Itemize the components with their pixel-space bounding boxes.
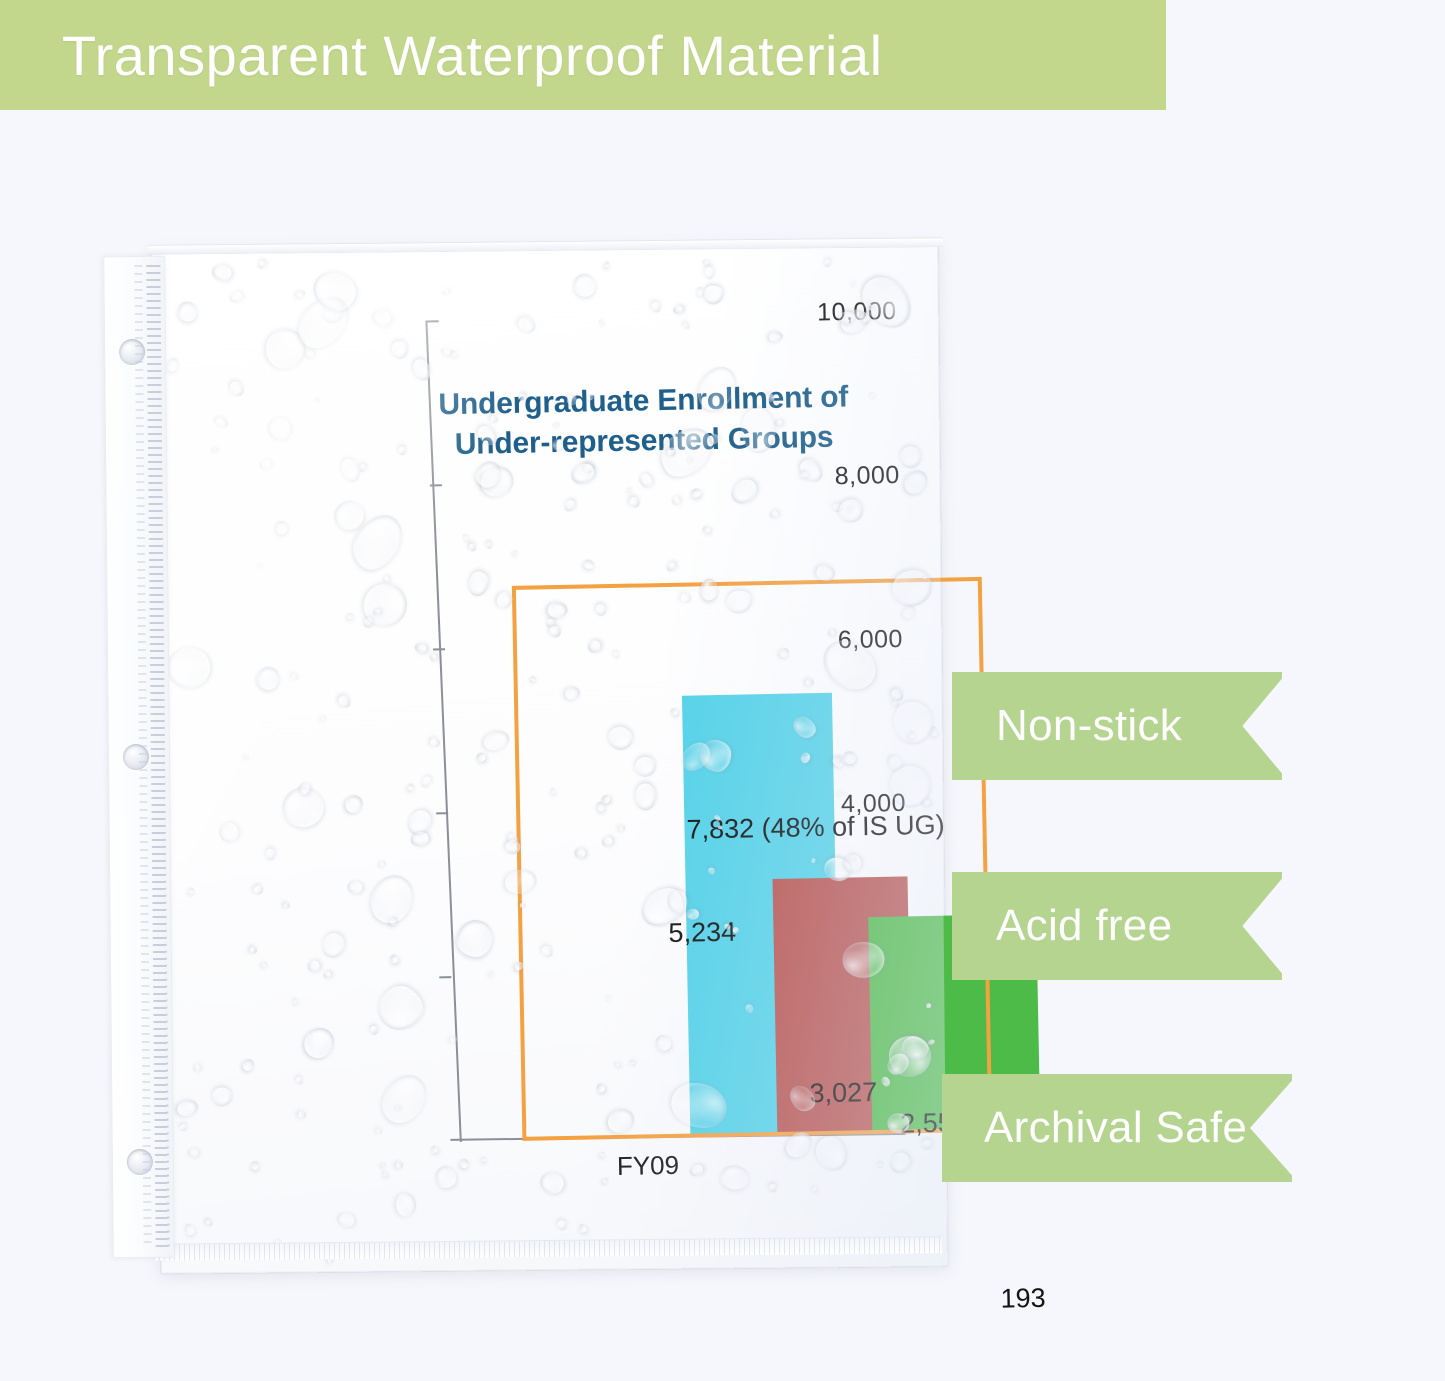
feature-ribbon-label: Acid free bbox=[952, 901, 1172, 951]
water-droplet bbox=[193, 1064, 201, 1073]
water-droplet bbox=[164, 356, 180, 374]
chart-annotation-total: 7,832 (48% of IS UG) bbox=[686, 810, 945, 846]
water-droplet bbox=[211, 447, 216, 452]
bar-value-label: 3,027 bbox=[809, 1077, 877, 1109]
sheet-protector: Undergraduate Enrollment of Under-repres… bbox=[108, 232, 948, 1277]
binder-hole bbox=[127, 1149, 153, 1175]
water-droplet bbox=[211, 1087, 232, 1108]
feature-ribbon-label: Archival Safe bbox=[942, 1103, 1247, 1153]
water-droplet bbox=[256, 260, 267, 271]
binder-hole bbox=[123, 744, 149, 770]
bar-value-label: 5,234 bbox=[668, 917, 736, 949]
y-axis-tick bbox=[427, 320, 439, 322]
water-droplet bbox=[187, 887, 194, 895]
binder-hole bbox=[119, 339, 145, 365]
bar-value-label: 193 bbox=[1000, 1283, 1046, 1315]
feature-ribbon-archival-safe: Archival Safe bbox=[942, 1074, 1292, 1182]
water-droplet bbox=[205, 1219, 214, 1228]
water-droplet bbox=[175, 1097, 200, 1118]
y-axis-tick bbox=[430, 484, 442, 486]
header-banner-title: Transparent Waterproof Material bbox=[0, 23, 883, 88]
water-droplet bbox=[186, 1147, 198, 1157]
water-droplet bbox=[177, 302, 197, 322]
sheet-protector-body: Undergraduate Enrollment of Under-repres… bbox=[151, 242, 948, 1274]
chart-figure: Undergraduate Enrollment of Under-repres… bbox=[216, 258, 934, 1231]
highlight-frame bbox=[512, 577, 993, 1141]
header-banner: Transparent Waterproof Material bbox=[0, 0, 1166, 110]
water-droplet bbox=[165, 645, 213, 691]
binder-strip bbox=[103, 256, 175, 1259]
feature-ribbon-acid-free: Acid free bbox=[952, 872, 1282, 980]
feature-ribbon-non-stick: Non-stick bbox=[952, 672, 1282, 780]
feature-ribbon-label: Non-stick bbox=[952, 701, 1182, 751]
y-axis-tick-label: 8,000 bbox=[790, 461, 901, 492]
water-droplet bbox=[178, 1124, 188, 1133]
y-axis-tick-label: 10,000 bbox=[786, 297, 897, 328]
chart-plot-area: 10,000 8,000 6,000 4,000 2,000 - bbox=[276, 284, 913, 1176]
water-droplet bbox=[182, 1222, 196, 1237]
x-axis-label: FY09 bbox=[548, 1149, 749, 1184]
